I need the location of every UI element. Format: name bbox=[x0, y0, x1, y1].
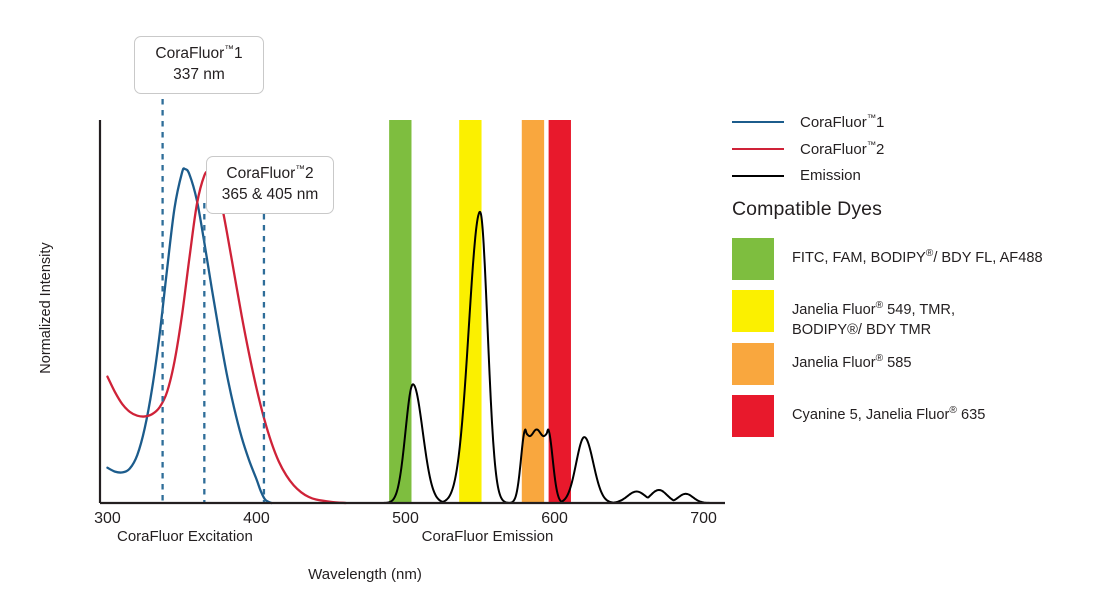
callout-1-title: CoraFluor™1 bbox=[146, 44, 252, 65]
y-axis-label: Normalized Intensity bbox=[38, 218, 54, 398]
legend-item-2: Emission bbox=[732, 167, 861, 184]
legend-item-label: CoraFluor™1 bbox=[800, 113, 884, 131]
spectra-figure: Normalized Intensity Wavelength (nm) Cor… bbox=[0, 0, 1110, 612]
dye-item-label: Janelia Fluor® 549, TMR, BODIPY®/ BDY TM… bbox=[792, 290, 955, 340]
compatible-dyes-heading: Compatible Dyes bbox=[732, 198, 882, 221]
dye-item-label: Cyanine 5, Janelia Fluor® 635 bbox=[792, 395, 985, 425]
legend-item-1: CoraFluor™2 bbox=[732, 140, 884, 158]
legend-line-swatch bbox=[732, 175, 784, 177]
x-tick-600: 600 bbox=[525, 510, 585, 528]
series-curve-0 bbox=[107, 168, 271, 503]
green-band bbox=[389, 120, 411, 503]
x-axis-label: Wavelength (nm) bbox=[0, 566, 730, 583]
orange-band bbox=[522, 120, 544, 503]
x-axis-sublabel-excitation: CoraFluor Excitation bbox=[95, 528, 275, 545]
callout-2-value: 365 & 405 nm bbox=[218, 185, 322, 205]
dye-color-swatch bbox=[732, 343, 774, 385]
legend-item-0: CoraFluor™1 bbox=[732, 113, 884, 131]
dye-color-swatch bbox=[732, 290, 774, 332]
x-axis-sublabel-emission: CoraFluor Emission bbox=[398, 528, 578, 545]
dye-item-label: FITC, FAM, BODIPY®/ BDY FL, AF488 bbox=[792, 238, 1043, 268]
dye-item-label: Janelia Fluor® 585 bbox=[792, 343, 912, 373]
legend-line-swatch bbox=[732, 121, 784, 123]
callout-corafluor1: CoraFluor™1 337 nm bbox=[134, 36, 264, 94]
x-tick-400: 400 bbox=[226, 510, 286, 528]
dye-color-swatch bbox=[732, 395, 774, 437]
callout-1-value: 337 nm bbox=[146, 65, 252, 85]
dye-color-swatch bbox=[732, 238, 774, 280]
dye-item-0: FITC, FAM, BODIPY®/ BDY FL, AF488 bbox=[732, 238, 1043, 280]
x-tick-500: 500 bbox=[376, 510, 436, 528]
dye-item-3: Cyanine 5, Janelia Fluor® 635 bbox=[732, 395, 985, 437]
series-curve-1 bbox=[107, 172, 345, 503]
dye-item-2: Janelia Fluor® 585 bbox=[732, 343, 912, 385]
legend-item-label: CoraFluor™2 bbox=[800, 140, 884, 158]
legend-item-label: Emission bbox=[800, 167, 861, 184]
callout-corafluor2: CoraFluor™2 365 & 405 nm bbox=[206, 156, 334, 214]
callout-2-title: CoraFluor™2 bbox=[218, 164, 322, 185]
x-tick-700: 700 bbox=[674, 510, 734, 528]
legend-panel: CoraFluor™1CoraFluor™2Emission Compatibl… bbox=[730, 0, 1110, 612]
legend-line-swatch bbox=[732, 148, 784, 150]
chart-area: Normalized Intensity Wavelength (nm) Cor… bbox=[0, 0, 730, 612]
dye-item-1: Janelia Fluor® 549, TMR, BODIPY®/ BDY TM… bbox=[732, 290, 955, 340]
x-tick-300: 300 bbox=[77, 510, 137, 528]
